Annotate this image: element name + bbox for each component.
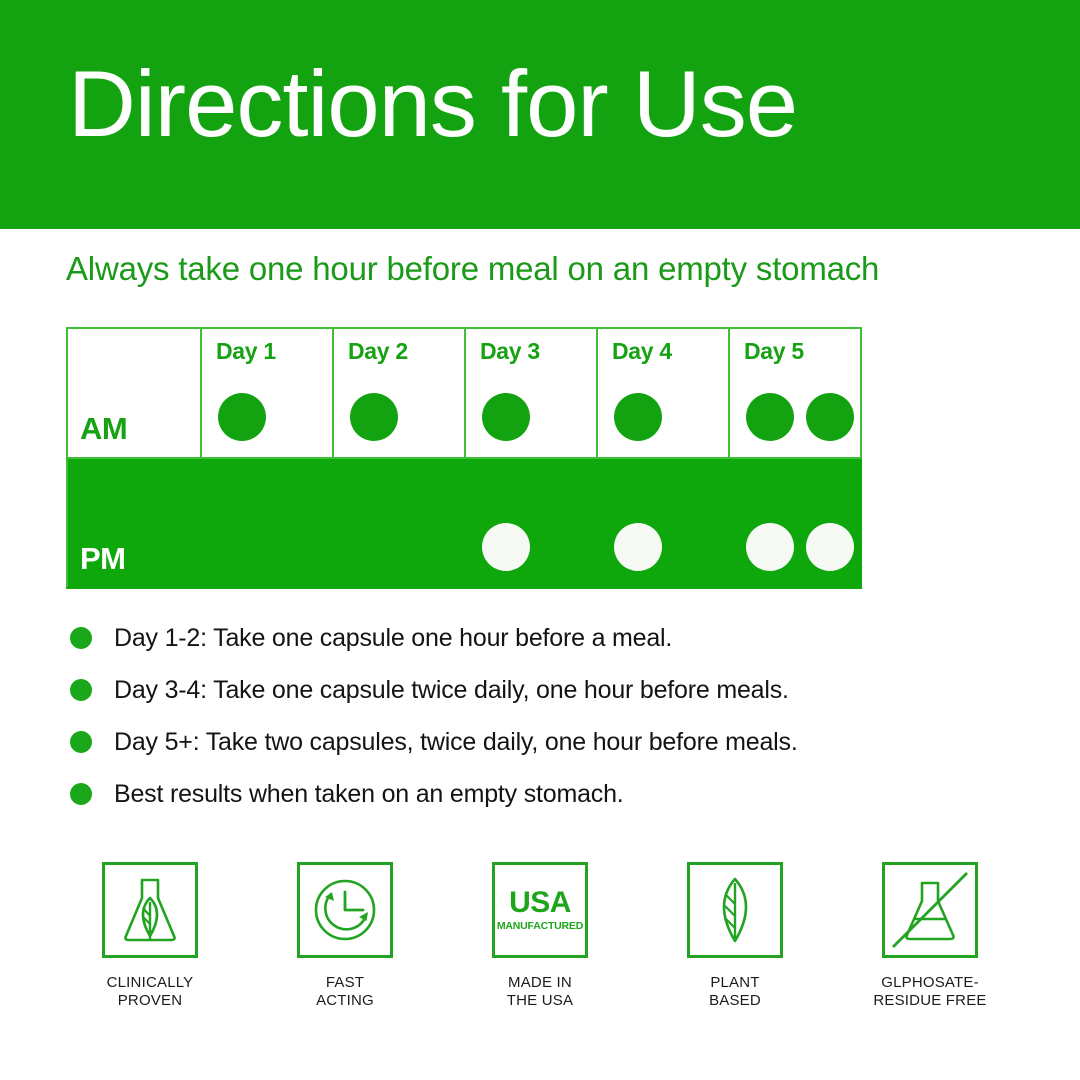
badge-caption-line2: PROVEN	[107, 992, 194, 1010]
table-row-pm: PM	[67, 458, 861, 588]
badge-caption-line2: RESIDUE FREE	[873, 992, 986, 1010]
am-pills-day-2	[350, 393, 398, 441]
badge-frame: USA MANUFACTURED	[492, 862, 588, 958]
am-pills-day-1	[218, 393, 266, 441]
pm-pills-day-4	[614, 523, 662, 571]
bullet-dot-icon	[70, 679, 92, 701]
badge-plant-based: PLANT BASED	[645, 862, 825, 1011]
dosage-schedule-table: AM Day 1 Day 2	[66, 327, 862, 589]
list-item: Best results when taken on an empty stom…	[70, 768, 970, 820]
row-label-cell-pm: PM	[67, 458, 201, 588]
day-header-4: Day 4	[612, 338, 672, 365]
leaf-icon	[699, 874, 771, 946]
pm-cell-day-5	[729, 458, 861, 588]
pm-pills-day-3	[482, 523, 530, 571]
am-pills-day-4	[614, 393, 662, 441]
capsule-icon	[746, 523, 794, 571]
list-item-label: Day 1-2: Take one capsule one hour befor…	[114, 624, 672, 653]
pm-label: PM	[80, 541, 126, 577]
day-header-3: Day 3	[480, 338, 540, 365]
badge-caption-line2: THE USA	[507, 992, 573, 1010]
row-label-cell-am: AM	[67, 328, 201, 458]
subtitle-instruction: Always take one hour before meal on an e…	[66, 250, 879, 288]
pm-cell-day-1	[201, 458, 333, 588]
usa-word: USA	[509, 888, 571, 918]
badge-frame	[687, 862, 783, 958]
day-header-5: Day 5	[744, 338, 804, 365]
am-cell-day-3: Day 3	[465, 328, 597, 458]
am-cell-day-4: Day 4	[597, 328, 729, 458]
usa-manufactured-icon: USA MANUFACTURED	[497, 888, 583, 932]
badge-frame	[297, 862, 393, 958]
badge-caption-line1: PLANT	[709, 974, 761, 992]
day-header-1: Day 1	[216, 338, 276, 365]
capsule-icon	[614, 523, 662, 571]
clock-arrow-icon	[309, 874, 381, 946]
badge-caption-line1: CLINICALLY	[107, 974, 194, 992]
badge-caption-line1: MADE IN	[507, 974, 573, 992]
page-title: Directions for Use	[68, 55, 797, 154]
page-header: Directions for Use	[0, 0, 1080, 229]
pm-cell-day-4	[597, 458, 729, 588]
pm-cell-day-3	[465, 458, 597, 588]
bullet-dot-icon	[70, 627, 92, 649]
badge-caption: GLPHOSATE- RESIDUE FREE	[873, 974, 986, 1011]
capsule-icon	[482, 523, 530, 571]
table-row-am: AM Day 1 Day 2	[67, 328, 861, 458]
list-item: Day 5+: Take two capsules, twice daily, …	[70, 716, 970, 768]
list-item: Day 3-4: Take one capsule twice daily, o…	[70, 664, 970, 716]
pm-cell-day-2	[333, 458, 465, 588]
list-item: Day 1-2: Take one capsule one hour befor…	[70, 612, 970, 664]
instruction-list: Day 1-2: Take one capsule one hour befor…	[70, 612, 970, 820]
badge-caption-line1: FAST	[316, 974, 374, 992]
badge-clinically-proven: CLINICALLY PROVEN	[60, 862, 240, 1011]
capsule-icon	[806, 523, 854, 571]
badge-caption-line2: BASED	[709, 992, 761, 1010]
trust-badge-row: CLINICALLY PROVEN FAST ACTING USA MANUFA…	[60, 862, 1020, 1011]
badge-caption-line1: GLPHOSATE-	[873, 974, 986, 992]
badge-caption-line2: ACTING	[316, 992, 374, 1010]
capsule-icon	[806, 393, 854, 441]
list-item-label: Day 3-4: Take one capsule twice daily, o…	[114, 676, 789, 705]
capsule-icon	[482, 393, 530, 441]
pm-pills-day-5	[746, 523, 854, 571]
am-label: AM	[80, 411, 127, 447]
capsule-icon	[218, 393, 266, 441]
badge-frame	[102, 862, 198, 958]
badge-caption: CLINICALLY PROVEN	[107, 974, 194, 1011]
am-pills-day-5	[746, 393, 854, 441]
badge-caption: MADE IN THE USA	[507, 974, 573, 1011]
am-cell-day-5: Day 5	[729, 328, 861, 458]
capsule-icon	[350, 393, 398, 441]
badge-frame	[882, 862, 978, 958]
bullet-dot-icon	[70, 783, 92, 805]
badge-fast-acting: FAST ACTING	[255, 862, 435, 1011]
capsule-icon	[746, 393, 794, 441]
am-cell-day-1: Day 1	[201, 328, 333, 458]
am-pills-day-3	[482, 393, 530, 441]
badge-glyphosate-residue-free: GLPHOSATE- RESIDUE FREE	[840, 862, 1020, 1011]
bullet-dot-icon	[70, 731, 92, 753]
capsule-icon	[614, 393, 662, 441]
flask-crossed-out-icon	[889, 869, 971, 951]
badge-caption: PLANT BASED	[709, 974, 761, 1011]
usa-subword: MANUFACTURED	[497, 920, 583, 932]
list-item-label: Day 5+: Take two capsules, twice daily, …	[114, 728, 798, 757]
flask-leaf-icon	[114, 874, 186, 946]
badge-made-in-usa: USA MANUFACTURED MADE IN THE USA	[450, 862, 630, 1011]
am-cell-day-2: Day 2	[333, 328, 465, 458]
list-item-label: Best results when taken on an empty stom…	[114, 780, 624, 809]
day-header-2: Day 2	[348, 338, 408, 365]
badge-caption: FAST ACTING	[316, 974, 374, 1011]
